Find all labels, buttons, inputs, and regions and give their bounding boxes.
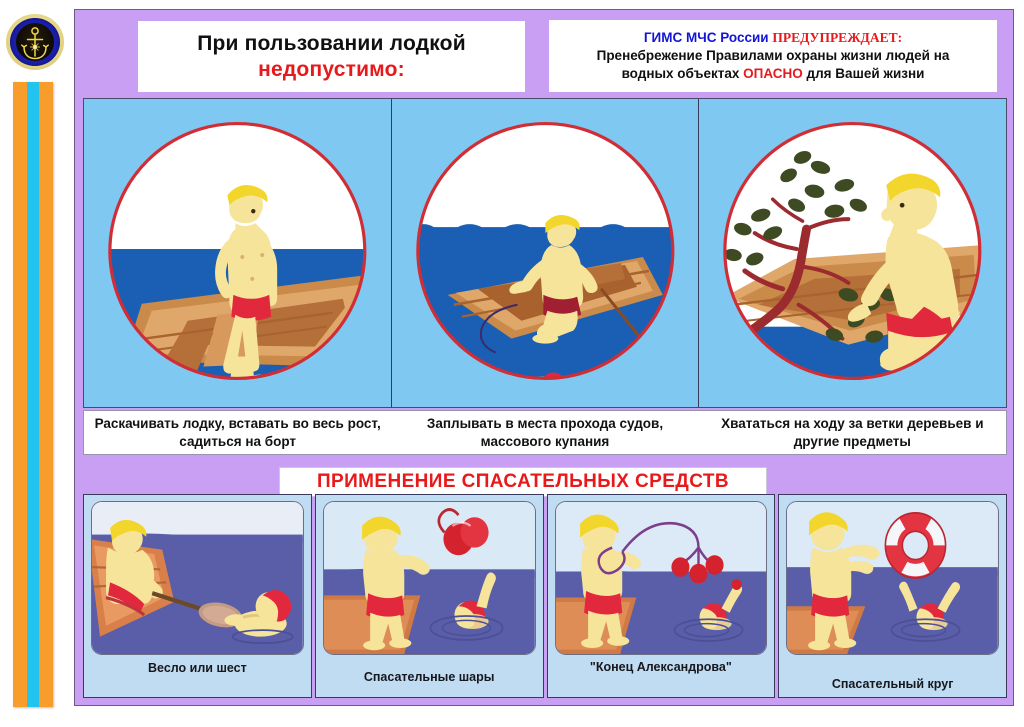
rescue-panel-alexandrov-end: "Конец Александрова" [547,494,776,698]
prohibited-captions: Раскачивать лодку, вставать во весь рост… [83,410,1007,455]
warning-line-1: ГИМС МЧС России ПРЕДУПРЕЖДАЕТ: [644,29,902,47]
rescue-caption-oar-or-pole: Весло или шест [84,657,311,697]
warning-line-3: водных объектах ОПАСНО для Вашей жизни [622,65,925,83]
title-line-1: При пользовании лодкой [197,31,466,57]
warning-danger-word: ОПАСНО [743,66,803,81]
caption-grabbing-branches: Хвататься на ходу за ветки деревьев и др… [699,411,1006,454]
rescue-balls-illustration [323,501,536,655]
rescue-panel-lifebuoy: Спасательный круг [778,494,1007,698]
caption-rowing-near-swimmers: Заплывать в места прохода судов, массово… [391,411,698,454]
stripe-cyan [27,82,40,707]
color-stripes [13,82,53,707]
warning-verb: ПРЕДУПРЕЖДАЕТ: [772,30,902,45]
safety-poster: При пользовании лодкой недопустимо: ГИМС… [0,0,1024,727]
poster-title-box: При пользовании лодкой недопустимо: [138,21,525,92]
alexandrov-end-art [556,502,767,654]
oar-rescue-art [92,502,303,654]
prohibited-panel-grabbing-branches [699,99,1006,407]
rowing-near-swimmers-illustration [392,99,699,407]
rescue-section-banner: ПРИМЕНЕНИЕ СПАСАТЕЛЬНЫХ СРЕДСТВ [279,467,767,497]
oar-or-pole-illustration [91,501,304,655]
rescue-banner-text: ПРИМЕНЕНИЕ СПАСАТЕЛЬНЫХ СРЕДСТВ [317,471,729,493]
caption-standing-in-boat: Раскачивать лодку, вставать во весь рост… [84,411,391,454]
anchor-emblem [6,14,64,70]
standing-in-boat-illustration [84,99,391,407]
lifebuoy-art [787,502,998,654]
header-row: При пользовании лодкой недопустимо: ГИМС… [75,10,1015,96]
rescue-panel-rescue-balls: Спасательные шары [315,494,544,698]
prohibited-panel-rowing-near-swimmers [392,99,700,407]
grabbing-branches-illustration [699,99,1006,407]
warning-box: ГИМС МЧС России ПРЕДУПРЕЖДАЕТ: Пренебреж… [549,20,997,92]
prohibited-panel-standing-in-boat [84,99,392,407]
rescue-panel-oar-or-pole: Весло или шест [83,494,312,698]
alexandrov-end-illustration [555,501,768,655]
rescue-caption-lifebuoy: Спасательный круг [779,657,1006,697]
title-line-2: недопустимо: [258,57,405,83]
warning-line-2: Пренебрежение Правилами охраны жизни люд… [597,47,950,65]
rescue-caption-rescue-balls: Спасательные шары [316,657,543,697]
stripe-orange-left [13,82,27,707]
poster-frame: При пользовании лодкой недопустимо: ГИМС… [74,9,1014,706]
rescue-illustrations: Весло или шест [83,494,1007,698]
stripe-orange-right [39,82,53,707]
sidebar [0,0,74,727]
lifebuoy-illustration [786,501,999,655]
rescue-caption-alexandrov-end: "Конец Александрова" [548,657,775,697]
warning-line3-b: для Вашей жизни [803,66,925,81]
warning-agency: ГИМС МЧС России [644,30,772,45]
warning-line3-a: водных объектах [622,66,744,81]
prohibited-illustrations [83,98,1007,408]
anchor-icon [6,14,64,70]
rescue-balls-art [324,502,535,654]
